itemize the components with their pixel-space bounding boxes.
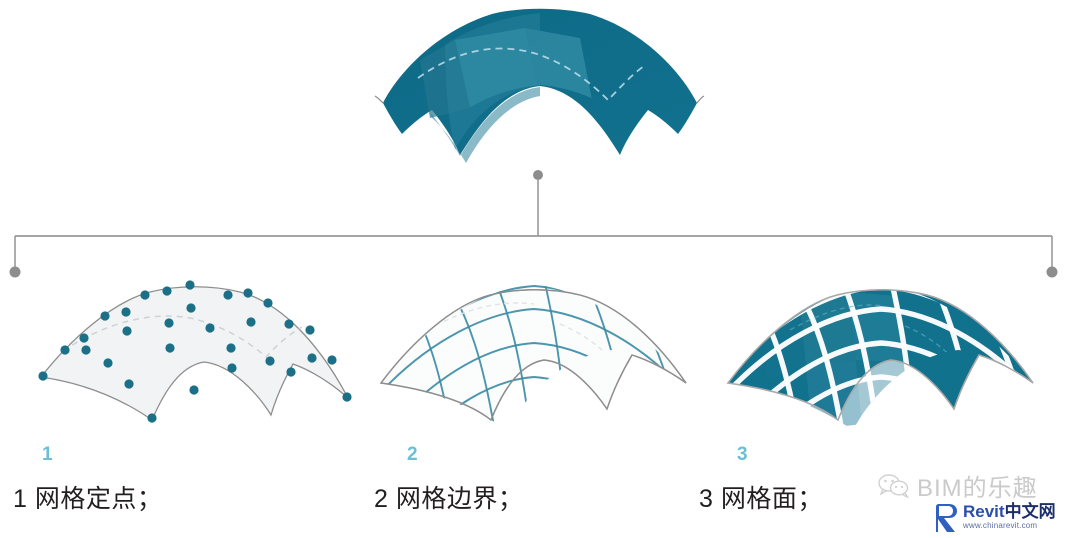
watermark-brand-url: www.chinarevit.com bbox=[963, 522, 1056, 530]
watermark-brand-cn: 中文网 bbox=[1005, 502, 1056, 521]
step-caption-2: 2 网格边界； bbox=[374, 479, 523, 515]
diagram-canvas: 1 2 3 1 网格定点； 2 网格边界； 3 网格面； BIM的乐趣 bbox=[0, 0, 1080, 538]
diagram-artwork bbox=[0, 0, 1080, 538]
watermark-brand-name: Revit中文网 bbox=[963, 503, 1056, 520]
mesh-edges-shape bbox=[381, 283, 688, 456]
revit-r-logo-icon bbox=[932, 503, 958, 533]
watermark-account-name: BIM的乐趣 bbox=[917, 468, 1038, 503]
connector-bracket bbox=[10, 170, 1058, 278]
step-number-3: 3 bbox=[737, 444, 748, 466]
connector-left-dot bbox=[10, 267, 21, 278]
mesh-faces-shape bbox=[728, 283, 1035, 456]
connector-right-dot bbox=[1047, 267, 1058, 278]
step-number-1: 1 bbox=[42, 444, 53, 466]
step-caption-3: 3 网格面； bbox=[699, 479, 823, 515]
watermark-brand-en: Revit bbox=[963, 502, 1005, 521]
step-number-2: 2 bbox=[407, 444, 418, 466]
faces-panels bbox=[728, 283, 1035, 456]
step-caption-1: 1 网格定点； bbox=[13, 479, 162, 515]
mesh-surface-overview bbox=[375, 9, 704, 163]
mesh-vertices-shape bbox=[38, 280, 351, 422]
watermark-account: BIM的乐趣 bbox=[878, 468, 1038, 503]
watermark: BIM的乐趣 Revit中文网 www.chinarevit.com bbox=[878, 468, 1078, 534]
wechat-icon bbox=[878, 474, 910, 498]
connector-stem-dot bbox=[533, 170, 543, 180]
watermark-brand: Revit中文网 www.chinarevit.com bbox=[932, 503, 1056, 533]
